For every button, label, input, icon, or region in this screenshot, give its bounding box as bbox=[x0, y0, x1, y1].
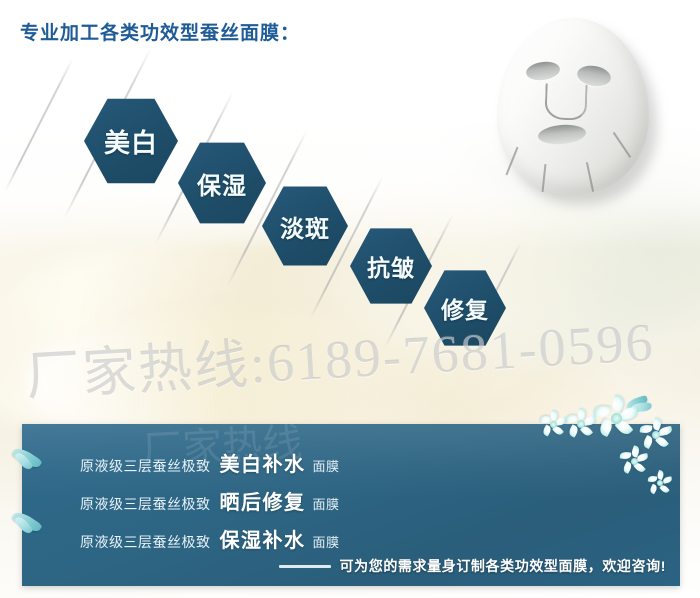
flower-core bbox=[577, 420, 585, 428]
benefit-hexagon-label: 保湿 bbox=[197, 166, 247, 201]
product-panel: 厂家热线 原液级三层蚕丝极致 美白补水 面膜 原液级三层蚕丝极致 晒后修复 面膜… bbox=[22, 424, 680, 586]
flower-decoration-icon bbox=[640, 420, 672, 452]
flower-decoration-icon bbox=[648, 472, 672, 496]
benefit-hexagon-label: 抗皱 bbox=[367, 249, 415, 283]
flower-petal bbox=[620, 451, 632, 459]
mask-mouth-cutout bbox=[537, 123, 586, 146]
benefit-hexagon-label: 淡斑 bbox=[280, 209, 330, 244]
flower-petal bbox=[648, 476, 658, 483]
flower-core bbox=[611, 413, 622, 424]
flower-decoration-icon bbox=[594, 398, 638, 442]
flower-petal bbox=[583, 416, 596, 426]
flower-petal bbox=[640, 424, 653, 433]
product-row[interactable]: 原液级三层蚕丝极致 美白补水 面膜 bbox=[80, 448, 340, 477]
mask-nose-cutout bbox=[544, 83, 587, 120]
mask-edge-slit bbox=[613, 132, 631, 158]
flower-petal bbox=[555, 417, 566, 426]
flower-core bbox=[657, 480, 663, 486]
product-suffix: 面膜 bbox=[313, 494, 340, 513]
mask-edge-slit bbox=[586, 162, 594, 192]
flower-decoration-icon bbox=[566, 410, 596, 440]
product-name: 晒后修复 bbox=[220, 486, 306, 515]
benefit-hexagon-label: 美白 bbox=[104, 123, 158, 160]
flower-petal bbox=[636, 453, 648, 462]
mask-edge-slit bbox=[505, 147, 518, 175]
product-name: 保湿补水 bbox=[220, 524, 306, 553]
promo-banner: 专业加工各类功效型蚕丝面膜： 美白 保湿 淡斑 抗皱 修复 厂家热线:6189-… bbox=[0, 0, 700, 598]
flower-petal bbox=[593, 405, 610, 418]
product-suffix: 面膜 bbox=[313, 456, 340, 475]
product-name: 美白补水 bbox=[220, 448, 306, 477]
product-prefix: 原液级三层蚕丝极致 bbox=[80, 456, 211, 476]
flower-petal bbox=[658, 426, 672, 436]
mask-edge-slit bbox=[542, 164, 546, 192]
tagline-text: 可为您的需求量身订制各类功效型面膜，欢迎咨询! bbox=[340, 556, 666, 576]
flower-petal bbox=[649, 484, 659, 495]
flower-petal bbox=[566, 414, 578, 423]
flower-decoration-icon bbox=[620, 448, 648, 476]
flower-petal bbox=[620, 407, 639, 421]
flower-core bbox=[652, 431, 660, 439]
product-suffix: 面膜 bbox=[313, 532, 340, 551]
product-prefix: 原液级三层蚕丝极致 bbox=[80, 494, 211, 514]
flower-decoration-icon bbox=[540, 412, 566, 438]
product-row[interactable]: 原液级三层蚕丝极致 保湿补水 面膜 bbox=[80, 524, 340, 553]
product-row[interactable]: 原液级三层蚕丝极致 晒后修复 面膜 bbox=[80, 486, 340, 515]
flower-petal bbox=[663, 476, 673, 483]
mask-eye-cutout-left bbox=[525, 60, 561, 83]
page-title: 专业加工各类功效型蚕丝面膜： bbox=[20, 18, 300, 45]
cta-tagline[interactable]: 可为您的需求量身订制各类功效型面膜，欢迎咨询! bbox=[279, 556, 666, 576]
flower-core bbox=[631, 458, 638, 465]
tagline-dash-icon bbox=[279, 565, 331, 568]
product-prefix: 原液级三层蚕丝极致 bbox=[80, 532, 211, 552]
flower-petal bbox=[540, 415, 551, 423]
sheet-mask-body bbox=[497, 18, 649, 194]
flower-core bbox=[550, 421, 557, 428]
sheet-mask-image bbox=[497, 18, 677, 208]
